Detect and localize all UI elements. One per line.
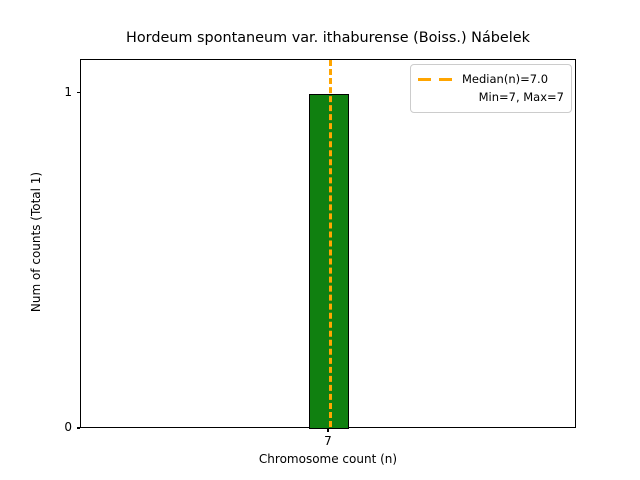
x-tick-mark-7 [327, 428, 328, 432]
y-tick-label-0: 0 [38, 420, 72, 434]
x-axis-label: Chromosome count (n) [80, 452, 576, 466]
dashed-line-icon [418, 73, 454, 85]
legend-label-range: Min=7, Max=7 [479, 90, 564, 104]
chart-figure: Hordeum spontaneum var. ithaburense (Boi… [0, 0, 640, 480]
legend-item-median: Median(n)=7.0 [418, 70, 564, 88]
chart-legend: Median(n)=7.0 Min=7, Max=7 [410, 64, 572, 113]
chart-title: Hordeum spontaneum var. ithaburense (Boi… [80, 30, 576, 46]
y-tick-label-1: 1 [38, 85, 72, 99]
legend-item-range: Min=7, Max=7 [418, 88, 564, 106]
plot-area [80, 59, 576, 428]
y-axis-label: Num of counts (Total 1) [29, 171, 43, 311]
median-line [329, 60, 332, 427]
x-tick-label-7: 7 [298, 434, 358, 448]
legend-label-median: Median(n)=7.0 [462, 72, 548, 86]
bar-series [81, 60, 575, 427]
